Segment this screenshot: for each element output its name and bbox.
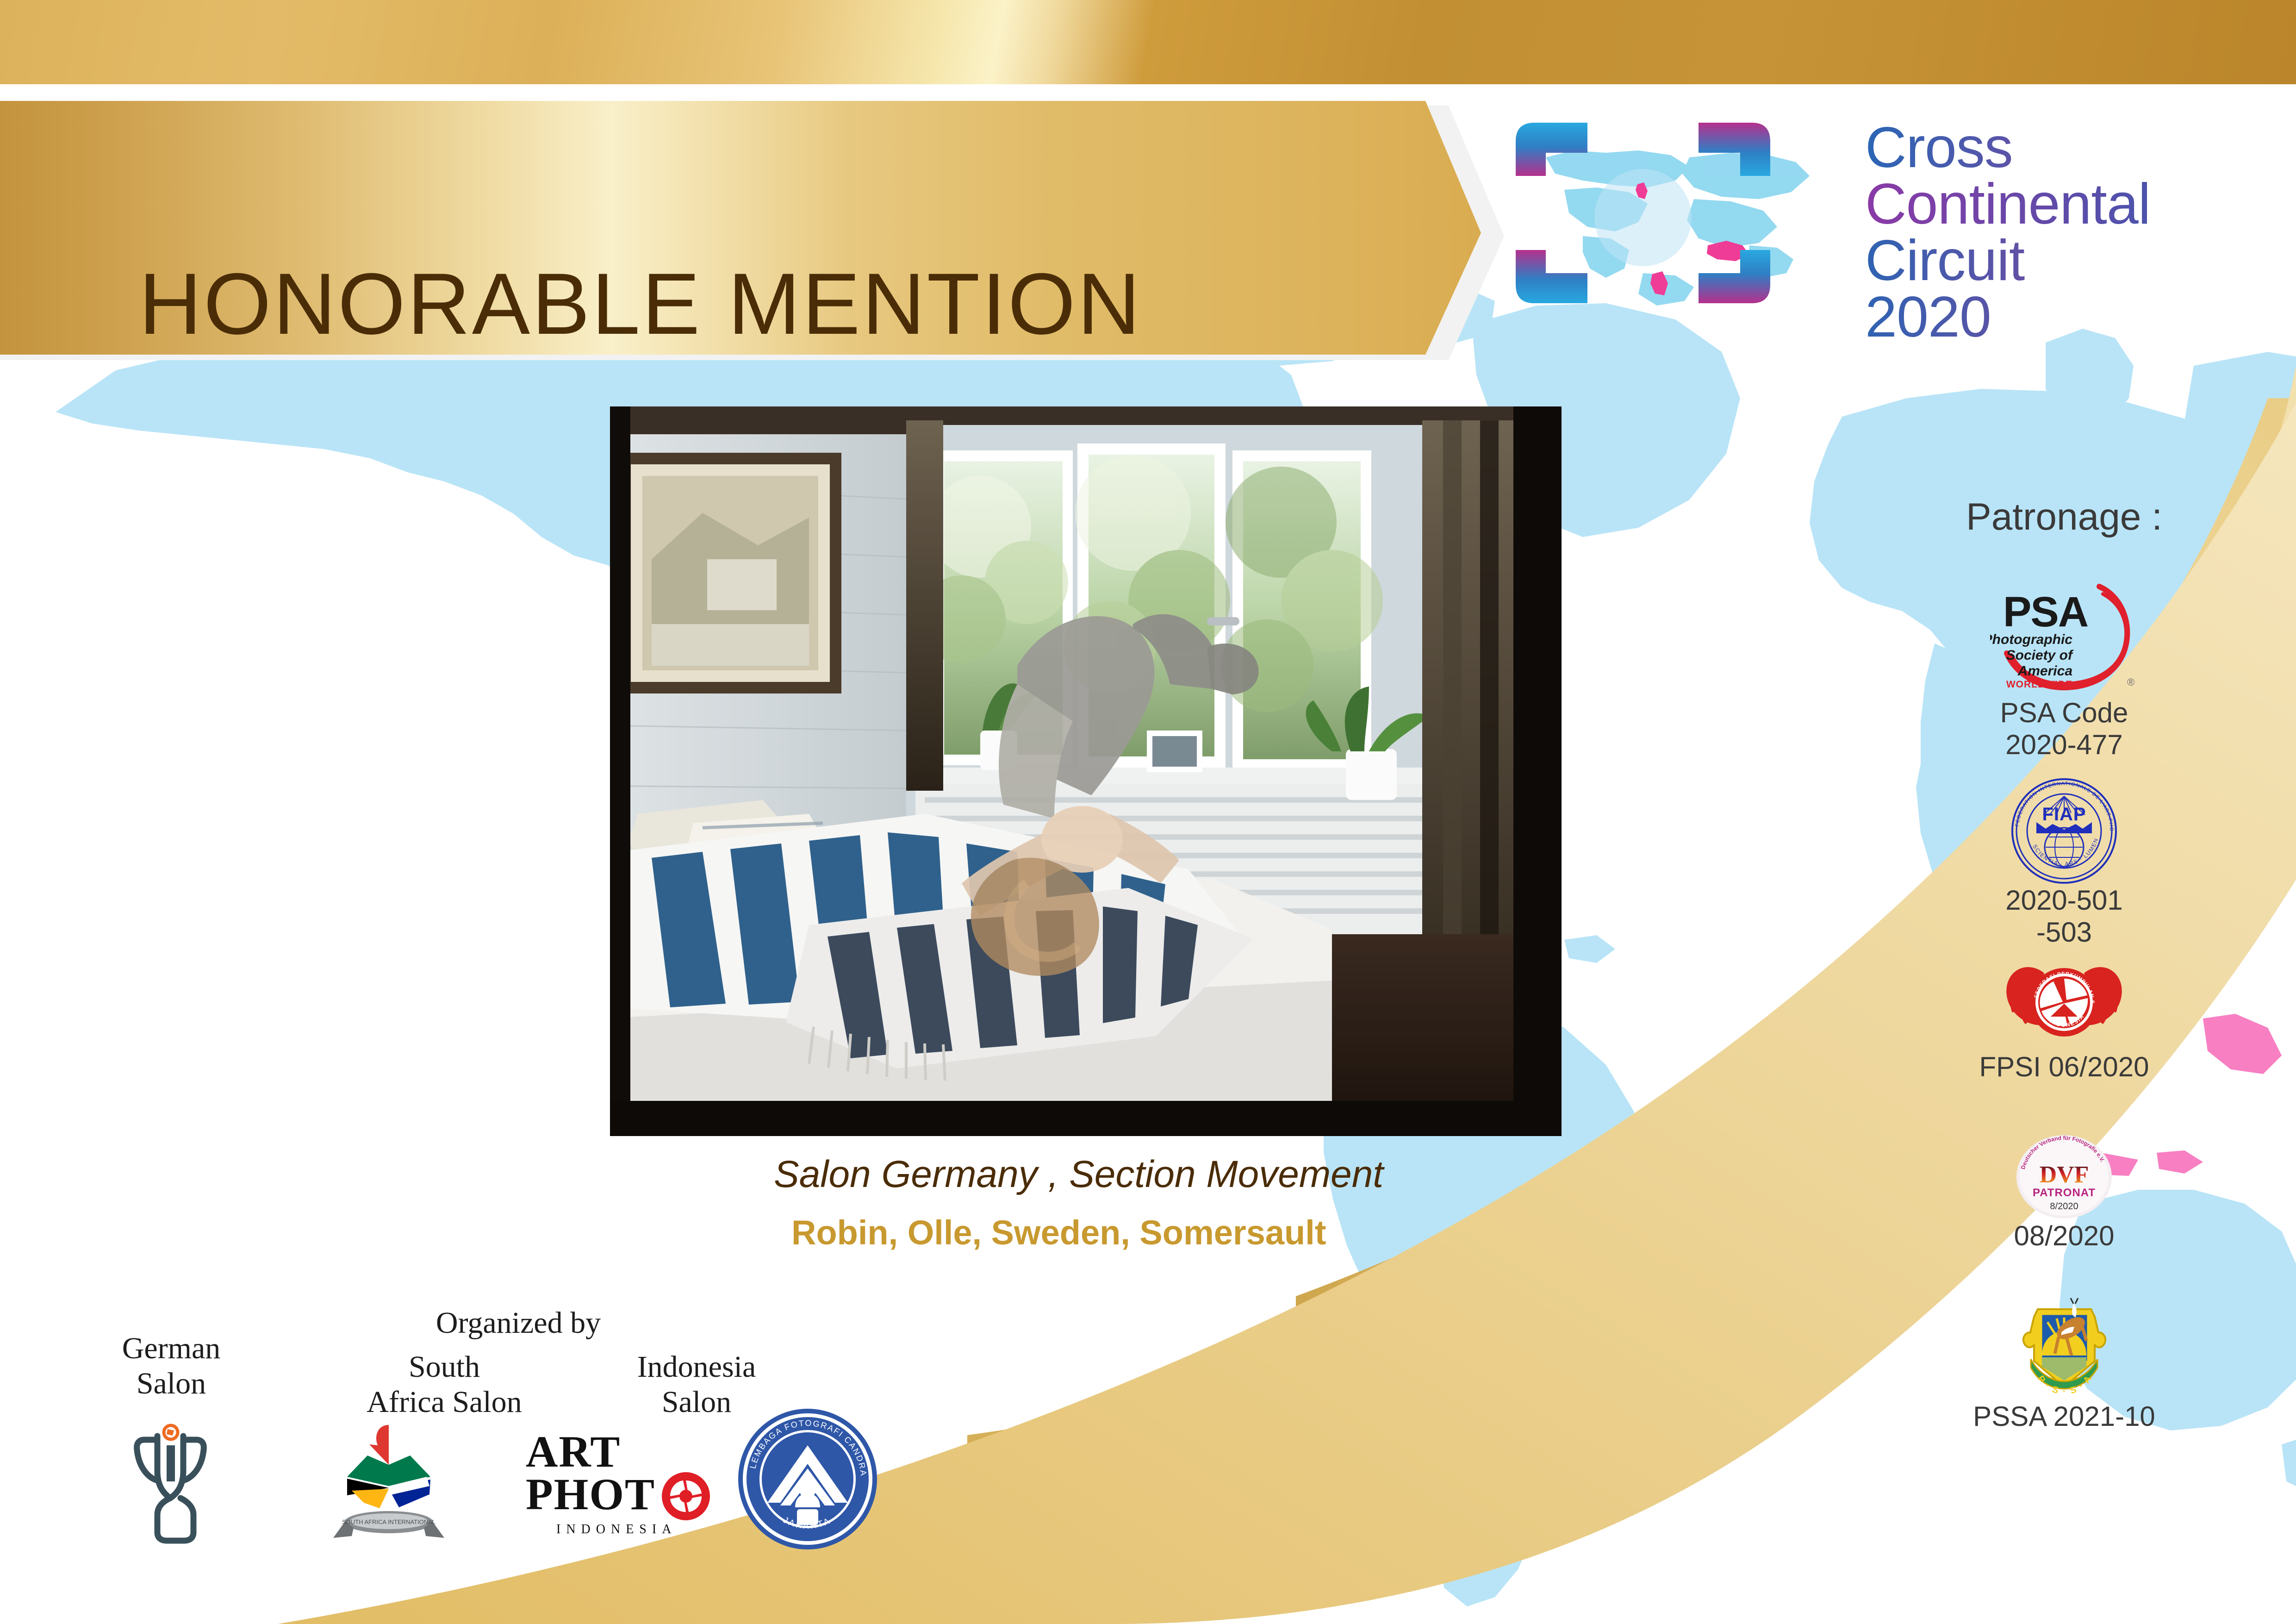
award-certificate: HONORABLE MENTION (0, 0, 2296, 1624)
logo-line-circuit: Circuit (1865, 232, 2282, 289)
psa-logo-icon: PSA Photographic Society of America WORL… (1921, 576, 2208, 697)
organized-by-heading: Organized by (356, 1305, 680, 1341)
patronage-item-pssa: P · S · S · A PSSA 2021-10 (1921, 1296, 2208, 1432)
award-photo (610, 406, 1562, 1136)
patronage-caption-psa: PSA Code2020-477 (1921, 697, 2208, 761)
patronage-item-fpsi: FEDERASI PERKUMPULAN SENI FOTO INDONESIA… (1921, 954, 2208, 1083)
cross-continental-circuit-logo-icon (1490, 106, 1865, 319)
cross-continental-circuit-wordmark: Cross Continental Circuit 2020 (1865, 119, 2282, 346)
svg-text:ART: ART (526, 1427, 621, 1476)
honorable-mention-banner: HONORABLE MENTION (0, 101, 1504, 365)
svg-text:PATRONAT: PATRONAT (2033, 1187, 2096, 1199)
svg-text:PSA: PSA (2003, 588, 2088, 636)
top-gold-bar (0, 0, 2296, 84)
logo-line-cross: Cross (1865, 119, 2282, 176)
art-photo-indonesia-logo-icon: ART PHOT INDONESIA (523, 1426, 717, 1542)
svg-text:SOUTH AFRICA INTERNATIONAL: SOUTH AFRICA INTERNATIONAL (342, 1518, 436, 1525)
patronage-item-psa: PSA Photographic Society of America WORL… (1921, 576, 2208, 761)
svg-text:DVF: DVF (2040, 1162, 2089, 1188)
page-title: HONORABLE MENTION (139, 254, 1296, 354)
svg-text:WORLDWIDE: WORLDWIDE (2006, 679, 2072, 690)
south-africa-salon-logo-icon: SOUTH AFRICA INTERNATIONAL (319, 1417, 458, 1551)
patronage-item-dvf: DVF PATRONAT 8/2020 Deutscher Verband fü… (1921, 1134, 2208, 1252)
patronage-caption-fpsi: FPSI 06/2020 (1921, 1051, 2208, 1083)
caption-salon-section: Salon Germany , Section Movement (774, 1153, 1792, 1196)
patronage-heading: Patronage : (1921, 495, 2208, 539)
patronage-caption-fiap: 2020-501-503 (1921, 884, 2208, 948)
svg-text:8/2020: 8/2020 (2050, 1201, 2078, 1212)
svg-text:America: America (2017, 663, 2072, 679)
logo-line-year: 2020 (1865, 289, 2282, 345)
patronage-caption-dvf: 08/2020 (1921, 1220, 2208, 1252)
organizer-label-south-africa-salon: SouthAfrica Salon (324, 1349, 565, 1420)
svg-text:Photographic: Photographic (1990, 632, 2072, 647)
patronage-caption-pssa: PSSA 2021-10 (1921, 1400, 2208, 1432)
organizer-label-german-salon: GermanSalon (79, 1331, 264, 1401)
pssa-crest-icon: P · S · S · A (1921, 1296, 2208, 1400)
svg-text:Society of: Society of (2006, 648, 2074, 663)
patronage-item-fiap: FIAP FEDERATION INTERNATIONALE DE L'ART … (1921, 778, 2208, 948)
svg-text:FIAP: FIAP (2042, 804, 2086, 824)
svg-text:®: ® (2127, 676, 2134, 688)
logo-line-continental: Continental (1865, 176, 2282, 232)
caption-entry-title: Robin, Olle, Sweden, Somersault (791, 1213, 1810, 1252)
lembaga-fotografi-candra-naya-logo-icon: LEMBAGA FOTOGRAFI CANDRA NAYA JAKARTA (736, 1407, 879, 1551)
svg-text:SCIENTIA · ARS · LUMEN: SCIENTIA · ARS · LUMEN (2031, 837, 2099, 867)
trophy-aperture-icon (129, 1417, 212, 1551)
svg-text:INDONESIA: INDONESIA (556, 1522, 677, 1537)
svg-text:PHOT: PHOT (526, 1469, 655, 1519)
fiap-seal-icon: FIAP FEDERATION INTERNATIONALE DE L'ART … (1921, 778, 2208, 884)
dvf-patronat-seal-icon: DVF PATRONAT 8/2020 Deutscher Verband fü… (1921, 1134, 2208, 1220)
fpsi-logo-icon: FEDERASI PERKUMPULAN SENI FOTO INDONESIA (1921, 954, 2208, 1051)
